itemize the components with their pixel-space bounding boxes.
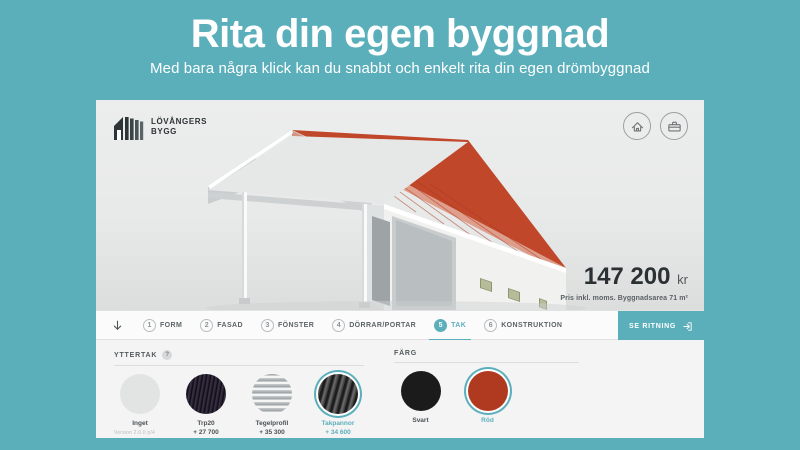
swatch-svart[interactable]: Svart	[394, 371, 447, 425]
step-number: 5	[434, 319, 447, 332]
cloud-house-glyph	[630, 119, 645, 134]
swatch-list: Svart Röd	[394, 371, 579, 425]
swatch-name: Inget	[114, 419, 166, 428]
brand-line-2: BYGG	[151, 127, 207, 137]
swatch-thumbnail	[252, 374, 292, 414]
version-label: Version 2.0.0 p/4	[114, 430, 155, 436]
price-amount: 147 200	[584, 263, 671, 290]
swatch-rod[interactable]: Röd	[461, 371, 514, 425]
swatch-list: Inget Trp20 + 27 700 Tegelprofil + 35 30…	[114, 374, 364, 437]
swatch-trp20[interactable]: Trp20 + 27 700	[180, 374, 232, 437]
swatch-thumbnail	[468, 371, 508, 411]
step-number: 4	[332, 319, 345, 332]
step-item-tak[interactable]: 5 TAK	[425, 310, 475, 340]
configurator-window: LÖVÅNGERS BYGG	[96, 100, 704, 438]
step-navigation-bar: 1 FORM 2 FASAD 3 FÖNSTER 4 DÖRRAR/PORTAR…	[96, 310, 704, 340]
swatch-name: Röd	[461, 416, 514, 425]
brand-line-1: LÖVÅNGERS	[151, 117, 207, 127]
swatch-price: + 34 600	[312, 428, 364, 437]
arrow-down-icon[interactable]	[106, 314, 128, 336]
option-group-header: FÄRG	[394, 350, 579, 357]
step-label: FASAD	[217, 322, 243, 329]
step-item-fonster[interactable]: 3 FÖNSTER	[252, 310, 323, 340]
step-number: 3	[261, 319, 274, 332]
option-group-title: YTTERTAK	[114, 352, 157, 359]
divider	[114, 365, 364, 366]
divider	[394, 362, 579, 363]
price-note: Pris inkl. moms. Byggnadsarea 71 m²	[560, 295, 688, 302]
step-label: KONSTRUKTION	[501, 322, 562, 329]
step-item-fasad[interactable]: 2 FASAD	[191, 310, 252, 340]
option-group-header: YTTERTAK ?	[114, 350, 364, 360]
step-item-form[interactable]: 1 FORM	[134, 310, 191, 340]
swatch-price: + 35 300	[246, 428, 298, 437]
swatch-name: Svart	[394, 416, 447, 425]
swatch-price: + 27 700	[180, 428, 232, 437]
page-subtitle: Med bara några klick kan du snabbt och e…	[0, 60, 800, 77]
price-display: 147 200 kr Pris inkl. moms. Byggnadsarea…	[560, 264, 688, 302]
swatch-takpannor[interactable]: Takpannor + 34 600	[312, 374, 364, 437]
option-group-title: FÄRG	[394, 350, 417, 357]
se-ritning-button[interactable]: SE RITNING	[618, 311, 704, 341]
swatch-thumbnail	[186, 374, 226, 414]
step-item-konstruktion[interactable]: 6 KONSTRUKTION	[475, 310, 571, 340]
price-currency: kr	[677, 272, 688, 287]
save-cloud-house-icon[interactable]	[623, 112, 651, 140]
hero-banner: Rita din egen byggnad Med bara några kli…	[0, 0, 800, 77]
building-viewport[interactable]: LÖVÅNGERS BYGG	[96, 100, 704, 310]
toolbox-icon[interactable]	[660, 112, 688, 140]
price-amount-row: 147 200 kr	[560, 264, 688, 293]
swatch-name: Takpannor	[312, 419, 364, 428]
option-group-yttertak: YTTERTAK ? Inget Trp20 + 27 700	[114, 350, 364, 438]
swatch-thumbnail	[318, 374, 358, 414]
step-number: 2	[200, 319, 213, 332]
swatch-thumbnail	[401, 371, 441, 411]
page-title: Rita din egen byggnad	[0, 12, 800, 56]
swatch-tegelprofil[interactable]: Tegelprofil + 35 300	[246, 374, 298, 437]
swatch-name: Trp20	[180, 419, 232, 428]
step-list: 1 FORM 2 FASAD 3 FÖNSTER 4 DÖRRAR/PORTAR…	[134, 310, 571, 340]
options-panel: YTTERTAK ? Inget Trp20 + 27 700	[96, 340, 704, 438]
brand-text: LÖVÅNGERS BYGG	[151, 117, 207, 137]
step-item-dorrar-portar[interactable]: 4 DÖRRAR/PORTAR	[323, 310, 425, 340]
option-group-farg: FÄRG Svart Röd	[394, 350, 579, 438]
step-number: 1	[143, 319, 156, 332]
toolbox-glyph	[667, 119, 682, 134]
swatch-inget[interactable]: Inget	[114, 374, 166, 437]
step-number: 6	[484, 319, 497, 332]
swatch-thumbnail	[120, 374, 160, 414]
help-icon[interactable]: ?	[162, 350, 172, 360]
swatch-name: Tegelprofil	[246, 419, 298, 428]
arrow-down-glyph	[111, 318, 124, 333]
brand-logo: LÖVÅNGERS BYGG	[114, 114, 207, 140]
open-drawing-icon	[682, 321, 693, 332]
step-label: FÖNSTER	[278, 322, 314, 329]
se-ritning-label: SE RITNING	[629, 323, 676, 330]
step-label: FORM	[160, 322, 182, 329]
page-root: Rita din egen byggnad Med bara några kli…	[0, 0, 800, 450]
step-label: TAK	[451, 322, 466, 329]
viewport-tools	[623, 112, 688, 140]
step-label: DÖRRAR/PORTAR	[349, 322, 416, 329]
house-bars-logo-icon	[114, 114, 144, 140]
